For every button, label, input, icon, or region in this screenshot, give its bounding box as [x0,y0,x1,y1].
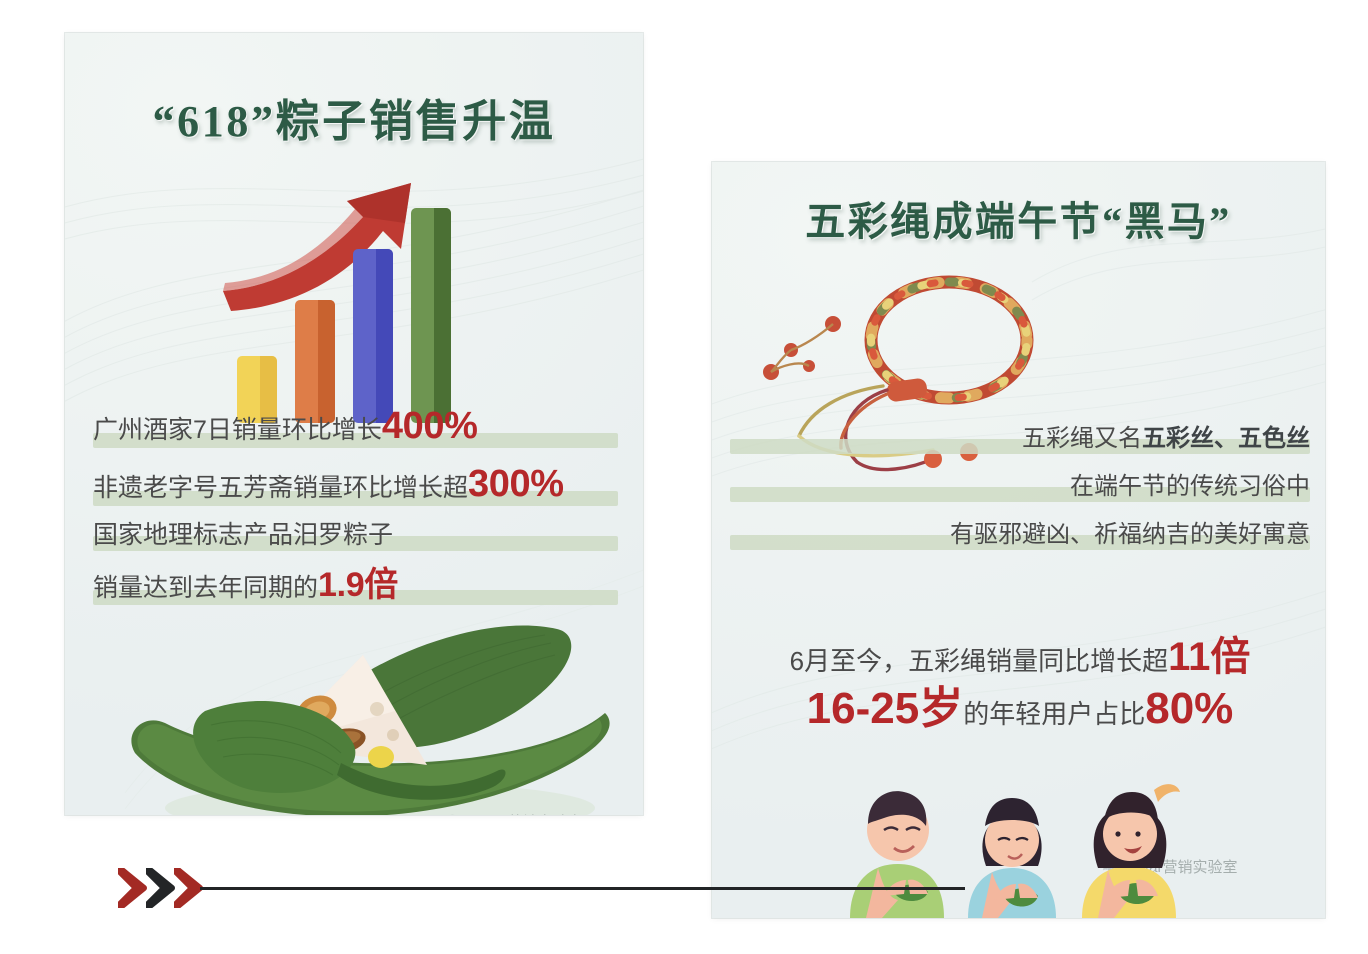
person-right [1082,784,1180,918]
bar-3 [353,249,393,423]
statement-text: 五彩绳又名 [1022,427,1142,451]
stat-lead: 6月至今，五彩绳销量同比增长超 [790,648,1168,674]
page-title-right: 五彩绳成端午节“黑马” [712,189,1325,247]
stats-block-right: 6月至今，五彩绳销量同比增长超 11倍 16-25岁 的年轻用户占比 80% [720,637,1320,741]
zongzi-illustration [105,593,625,815]
wechat-icon [445,812,464,815]
watermark-label: Mstar营销实验室 [470,811,583,815]
bar-2 [295,300,335,423]
statement-text: 销量达到去年同期的 [93,576,318,601]
statement-value: 400% [382,407,478,445]
stat-value-share: 80% [1145,687,1233,731]
statement-row: 在端午节的传统习俗中 [730,475,1310,499]
statement-list-left: 广州酒家7日销量环比增长 400% 非遗老字号五芳斋销量环比增长超 300% 国… [93,407,628,622]
statement-text: 在端午节的传统习俗中 [1070,475,1310,499]
statement-row: 国家地理标志产品汨罗粽子 [93,523,628,548]
bar-chart-graphic [215,173,505,423]
poster-right: 五彩绳成端午节“黑马” [712,162,1325,918]
statement-row: 广州酒家7日销量环比增长 400% [93,407,628,445]
statement-list-right: 五彩绳又名 五彩丝、五色丝 在端午节的传统习俗中 有驱邪避凶、祈福纳吉的美好寓意 [730,427,1310,571]
footer-decoration [118,862,978,912]
statement-text: 有驱邪避凶、祈福纳吉的美好寓意 [950,523,1310,547]
statement-text: 广州酒家7日销量环比增长 [93,418,382,443]
chart-bars [237,208,487,423]
statement-text: 非遗老字号五芳斋销量环比增长超 [93,476,468,501]
bar-4 [411,208,451,423]
stat-row: 16-25岁 的年轻用户占比 80% [720,687,1320,731]
statement-emphasis: 五彩丝、五色丝 [1142,427,1310,451]
watermark-left: Mstar营销实验室 [445,811,583,815]
divider-line [200,887,965,890]
poster-left: “618”粽子销售升温 广州酒家7日销量环比增长 400% [65,33,643,815]
statement-row: 五彩绳又名 五彩丝、五色丝 [730,427,1310,451]
stat-tail: 的年轻用户占比 [963,701,1145,727]
statement-text: 国家地理标志产品汨罗粽子 [93,523,393,548]
poster-canvas: “618”粽子销售升温 广州酒家7日销量环比增长 400% [0,0,1368,954]
page-title-left: “618”粽子销售升温 [65,85,643,149]
person-middle [968,798,1056,918]
stat-value-age: 16-25岁 [807,687,964,731]
stat-value: 11倍 [1168,637,1250,677]
statement-row: 非遗老字号五芳斋销量环比增长超 300% [93,465,628,503]
statement-row: 有驱邪避凶、祈福纳吉的美好寓意 [730,523,1310,547]
statement-value: 300% [468,465,564,503]
statement-value: 1.9倍 [318,568,398,602]
stat-row: 6月至今，五彩绳销量同比增长超 11倍 [720,637,1320,677]
